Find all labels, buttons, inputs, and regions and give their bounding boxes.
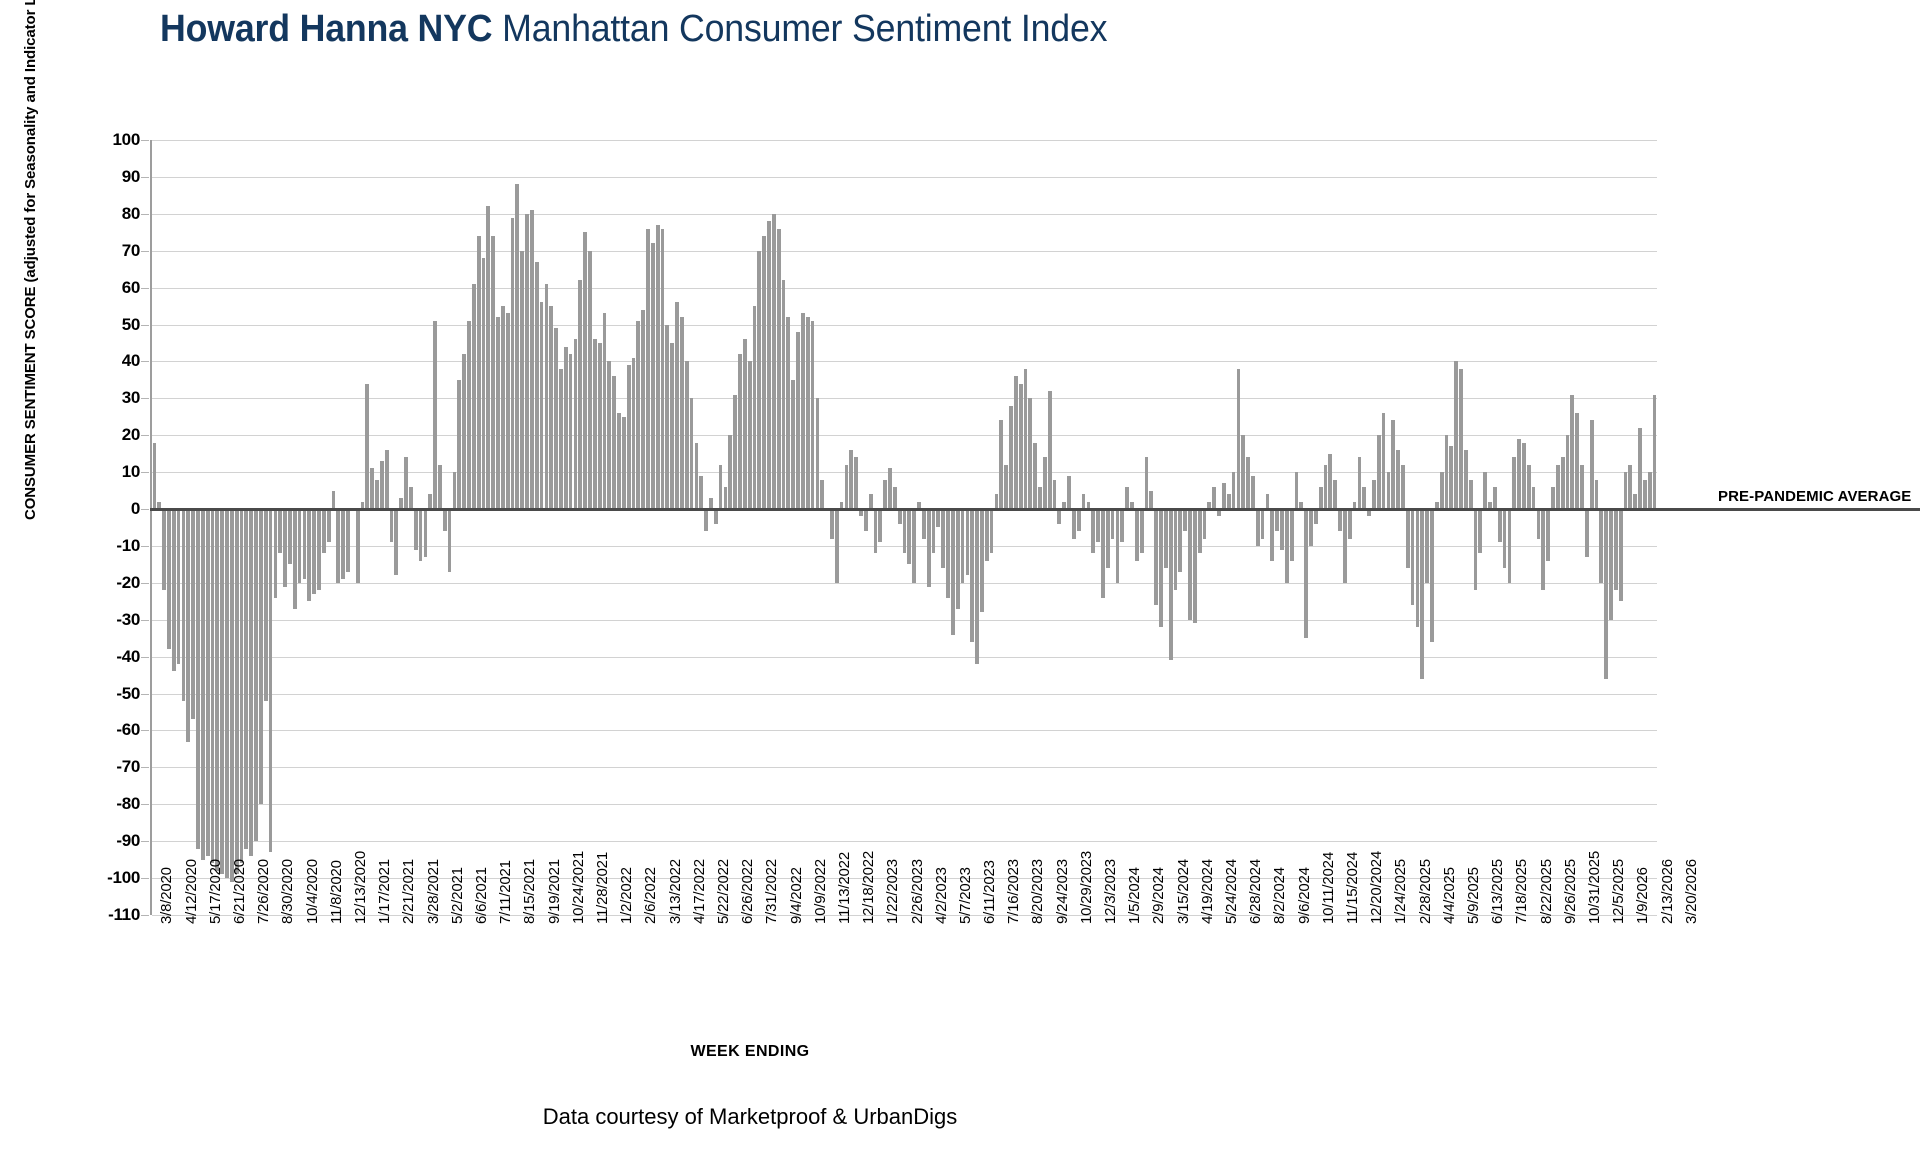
bar	[1406, 509, 1410, 568]
bar	[607, 361, 611, 509]
y-axis-tick-label: 90	[80, 167, 140, 187]
bar	[1599, 509, 1603, 583]
bar	[482, 258, 486, 509]
bar	[1358, 457, 1362, 509]
y-axis-tick	[141, 915, 149, 916]
bar	[1512, 457, 1516, 509]
bar	[1483, 472, 1487, 509]
bar	[1546, 509, 1550, 561]
bar	[1004, 465, 1008, 509]
bar	[346, 509, 350, 572]
bar	[540, 302, 544, 509]
bar	[622, 417, 626, 509]
bar	[772, 214, 776, 509]
bar	[1580, 465, 1584, 509]
bar	[985, 509, 989, 561]
x-axis-tick-label: 2/26/2023	[909, 859, 926, 924]
x-axis-tick-label: 12/13/2020	[352, 851, 369, 924]
pre-pandemic-average-label: PRE-PANDEMIC AVERAGE	[1718, 488, 1911, 505]
bar	[564, 347, 568, 509]
x-axis-tick-label: 12/20/2024	[1368, 851, 1385, 924]
y-axis-tick-label: -30	[80, 610, 140, 630]
bar	[182, 509, 186, 701]
bar	[656, 225, 660, 509]
bar	[322, 509, 326, 553]
bar	[1120, 509, 1124, 542]
bar	[1019, 384, 1023, 509]
gridline	[152, 361, 1657, 362]
bar	[612, 376, 616, 509]
bar	[704, 509, 708, 531]
bar	[1246, 457, 1250, 509]
bar	[1348, 509, 1352, 539]
bar	[1101, 509, 1105, 598]
bar	[1091, 509, 1095, 553]
bar	[777, 229, 781, 509]
bar	[356, 509, 360, 583]
bar	[244, 509, 248, 849]
bar	[211, 509, 215, 863]
bar	[1116, 509, 1120, 583]
bar	[215, 509, 219, 871]
bar	[1653, 395, 1657, 509]
bar	[1140, 509, 1144, 553]
gridline	[152, 767, 1657, 768]
bar	[254, 509, 258, 841]
bar	[574, 339, 578, 509]
bar	[636, 321, 640, 509]
bar	[1464, 450, 1468, 509]
bar	[753, 306, 757, 509]
y-axis-tick	[141, 841, 149, 842]
y-axis-tick	[141, 804, 149, 805]
bar	[1285, 509, 1289, 583]
bar	[1145, 457, 1149, 509]
footer-note: Data courtesy of Marketproof & UrbanDigs	[0, 1104, 1500, 1130]
bar	[907, 509, 911, 564]
gridline	[152, 472, 1657, 473]
bar	[1227, 494, 1231, 509]
y-axis-tick-label: 30	[80, 388, 140, 408]
y-axis-tick-label: -50	[80, 684, 140, 704]
bar	[1614, 509, 1618, 590]
bar	[951, 509, 955, 634]
x-axis-tick-label: 10/31/2025	[1586, 851, 1603, 924]
bar	[1048, 391, 1052, 509]
bar	[956, 509, 960, 609]
bar	[1401, 465, 1405, 509]
gridline	[152, 657, 1657, 658]
bar	[1430, 509, 1434, 642]
bar	[946, 509, 950, 598]
x-axis-tick-label: 10/4/2020	[304, 859, 321, 924]
bar	[1372, 480, 1376, 510]
bar	[380, 461, 384, 509]
bar	[535, 262, 539, 509]
y-axis-tick	[141, 730, 149, 731]
y-axis-tick	[141, 325, 149, 326]
bar	[249, 509, 253, 856]
x-axis-tick-label: 10/11/2024	[1320, 852, 1337, 924]
bar	[1043, 457, 1047, 509]
y-axis-tick-label: 70	[80, 241, 140, 261]
bar	[477, 236, 481, 509]
bar	[1449, 446, 1453, 509]
bar	[695, 443, 699, 509]
x-axis-tick-label: 8/2/2024	[1271, 867, 1288, 924]
bar	[685, 361, 689, 509]
bar	[651, 243, 655, 509]
bar	[1154, 509, 1158, 605]
gridline	[152, 804, 1657, 805]
pre-pandemic-average-line	[150, 508, 1920, 511]
bar	[874, 509, 878, 553]
x-axis-tick-label: 5/22/2022	[715, 859, 732, 924]
x-axis-tick-labels: 3/8/20204/12/20205/17/20206/21/20207/26/…	[0, 918, 1920, 1038]
bar	[661, 229, 665, 509]
bar	[491, 236, 495, 509]
bar	[501, 306, 505, 509]
x-axis-tick-label: 8/15/2021	[521, 859, 538, 924]
bar	[1338, 509, 1342, 531]
bar	[303, 509, 307, 579]
y-axis-tick	[141, 694, 149, 695]
y-axis-tick	[141, 288, 149, 289]
bar	[1643, 480, 1647, 510]
x-axis-tick-label: 5/2/2021	[449, 867, 466, 924]
bar	[177, 509, 181, 664]
bar	[1251, 476, 1255, 509]
x-axis-tick-label: 1/17/2021	[376, 859, 393, 924]
bar	[1478, 509, 1482, 553]
x-axis-tick-label: 12/3/2023	[1102, 859, 1119, 924]
y-axis-tick	[141, 509, 149, 510]
y-axis-tick-label: 80	[80, 204, 140, 224]
bar	[1391, 420, 1395, 509]
bar	[796, 332, 800, 509]
bar	[438, 465, 442, 509]
bar	[274, 509, 278, 598]
y-axis-tick	[141, 251, 149, 252]
bar	[1280, 509, 1284, 550]
bar	[259, 509, 263, 804]
x-axis-tick-label: 11/8/2020	[328, 860, 345, 924]
bar	[1527, 465, 1531, 509]
bar	[593, 339, 597, 509]
gridline	[152, 177, 1657, 178]
bar	[1256, 509, 1260, 546]
y-axis-tick-label: 10	[80, 462, 140, 482]
bar	[332, 491, 336, 509]
x-axis-tick-label: 1/22/2023	[884, 859, 901, 924]
x-axis-tick-label: 5/17/2020	[207, 859, 224, 924]
y-axis-tick	[141, 583, 149, 584]
bar	[1024, 369, 1028, 509]
bar	[424, 509, 428, 557]
bar	[1561, 457, 1565, 509]
bar	[1149, 491, 1153, 509]
bar	[903, 509, 907, 553]
bar	[801, 313, 805, 509]
bar	[283, 509, 287, 587]
bar	[153, 443, 157, 509]
bar	[394, 509, 398, 575]
bar	[617, 413, 621, 509]
bar	[167, 509, 171, 649]
x-axis-tick-label: 9/24/2023	[1054, 859, 1071, 924]
bar	[849, 450, 853, 509]
bar	[1067, 476, 1071, 509]
x-axis-tick-label: 6/11/2023	[981, 860, 998, 924]
x-axis-tick-label: 2/21/2021	[400, 859, 417, 924]
bar	[1077, 509, 1081, 531]
bar	[288, 509, 292, 564]
bar	[912, 509, 916, 583]
bar	[757, 251, 761, 509]
bar	[1440, 472, 1444, 509]
bar	[1541, 509, 1545, 590]
x-axis-tick-label: 10/9/2022	[812, 859, 829, 924]
x-axis-tick-label: 10/29/2023	[1078, 851, 1095, 924]
bar	[172, 509, 176, 671]
bar	[1551, 487, 1555, 509]
bar	[457, 380, 461, 509]
chart-container: 1009080706050403020100-10-20-30-40-50-60…	[0, 0, 1920, 1174]
x-axis-tick-label: 9/19/2021	[546, 859, 563, 924]
bar	[414, 509, 418, 550]
bar	[995, 494, 999, 509]
bar	[806, 317, 810, 509]
bar	[830, 509, 834, 539]
x-axis-tick-label: 8/20/2023	[1029, 859, 1046, 924]
bar	[1377, 435, 1381, 509]
bar	[428, 494, 432, 509]
bar	[1537, 509, 1541, 539]
bar	[1212, 487, 1216, 509]
bar	[206, 509, 210, 856]
bar	[1493, 487, 1497, 509]
x-axis-tick-label: 7/18/2025	[1513, 859, 1530, 924]
gridline	[152, 140, 1657, 141]
bar	[341, 509, 345, 579]
bar	[1522, 443, 1526, 509]
x-axis-tick-label: 5/9/2025	[1465, 867, 1482, 924]
bar	[922, 509, 926, 539]
bar	[733, 395, 737, 509]
bar	[312, 509, 316, 594]
bar	[782, 280, 786, 509]
x-axis-tick-label: 7/16/2023	[1005, 859, 1022, 924]
bar	[1454, 361, 1458, 509]
y-axis-tick-label: -20	[80, 573, 140, 593]
y-axis-tick-label: 40	[80, 351, 140, 371]
bar	[1469, 480, 1473, 510]
gridline	[152, 398, 1657, 399]
x-axis-tick-label: 7/11/2021	[497, 860, 514, 924]
bar	[370, 468, 374, 509]
bar	[714, 509, 718, 524]
x-axis-tick-label: 9/4/2022	[788, 867, 805, 924]
bar	[515, 184, 519, 509]
bar	[1028, 398, 1032, 509]
bar	[748, 361, 752, 509]
bar	[1106, 509, 1110, 568]
bar	[719, 465, 723, 509]
bar	[767, 221, 771, 509]
bar	[327, 509, 331, 542]
y-axis-tick-label: 60	[80, 278, 140, 298]
y-axis-tick	[141, 878, 149, 879]
bar	[486, 206, 490, 509]
bar	[1638, 428, 1642, 509]
x-axis-tick-label: 2/28/2025	[1417, 859, 1434, 924]
bar	[1275, 509, 1279, 531]
bar	[627, 365, 631, 509]
y-axis-tick	[141, 140, 149, 141]
bar	[1053, 480, 1057, 510]
bar	[1445, 435, 1449, 509]
bar	[936, 509, 940, 527]
bar	[1570, 395, 1574, 509]
bar	[1033, 443, 1037, 509]
y-axis-tick	[141, 767, 149, 768]
bar	[1411, 509, 1415, 605]
bar	[520, 251, 524, 509]
x-axis-tick-label: 7/26/2020	[255, 859, 272, 924]
bar	[1203, 509, 1207, 539]
bar	[878, 509, 882, 542]
bar	[786, 317, 790, 509]
bar	[1425, 509, 1429, 583]
x-axis-tick-label: 8/22/2025	[1538, 859, 1555, 924]
bar	[738, 354, 742, 509]
bar	[970, 509, 974, 642]
bar	[1633, 494, 1637, 509]
bar	[1328, 454, 1332, 509]
bar	[898, 509, 902, 524]
bar	[1474, 509, 1478, 590]
y-axis-tick-label: -100	[80, 868, 140, 888]
bar	[496, 317, 500, 509]
bar	[186, 509, 190, 742]
bar	[888, 468, 892, 509]
bar	[385, 450, 389, 509]
bar	[1343, 509, 1347, 583]
bar	[559, 369, 563, 509]
bar	[375, 480, 379, 510]
x-axis-tick-label: 11/13/2022	[836, 852, 853, 924]
bar	[293, 509, 297, 609]
bar	[1009, 406, 1013, 509]
y-axis-tick-label: -10	[80, 536, 140, 556]
gridline	[152, 435, 1657, 436]
bar	[975, 509, 979, 664]
x-axis-tick-label: 3/13/2022	[667, 859, 684, 924]
x-axis-tick-label: 8/30/2020	[279, 859, 296, 924]
bar	[1309, 509, 1313, 546]
bar	[1178, 509, 1182, 572]
x-axis-tick-label: 6/13/2025	[1489, 859, 1506, 924]
bar	[1517, 439, 1521, 509]
bar	[845, 465, 849, 509]
bar	[409, 487, 413, 509]
bar	[162, 509, 166, 590]
bar	[1459, 369, 1463, 509]
bar	[816, 398, 820, 509]
x-axis-tick-label: 9/26/2025	[1562, 859, 1579, 924]
bar	[961, 509, 965, 583]
y-axis-tick-label: 50	[80, 315, 140, 335]
bar	[317, 509, 321, 590]
bar	[1237, 369, 1241, 509]
bar	[1595, 480, 1599, 510]
x-axis-tick-label: 3/8/2020	[158, 867, 175, 924]
bar	[864, 509, 868, 531]
bar	[1232, 472, 1236, 509]
bar	[966, 509, 970, 575]
y-axis-title: CONSUMER SENTIMENT SCORE (adjusted for S…	[22, 0, 39, 520]
bar	[1222, 483, 1226, 509]
bar	[941, 509, 945, 568]
bar	[791, 380, 795, 509]
bar	[336, 509, 340, 583]
x-axis-tick-label: 3/28/2021	[425, 859, 442, 924]
bar	[1241, 435, 1245, 509]
bar	[743, 339, 747, 509]
bar	[1193, 509, 1197, 623]
gridline	[152, 214, 1657, 215]
bar	[1382, 413, 1386, 509]
bar	[511, 218, 515, 510]
x-axis-tick-label: 7/31/2022	[763, 859, 780, 924]
x-axis-tick-label: 4/4/2025	[1441, 867, 1458, 924]
bar	[603, 313, 607, 509]
bar	[598, 343, 602, 509]
y-axis-tick	[141, 398, 149, 399]
bar	[230, 509, 234, 882]
bar	[1503, 509, 1507, 568]
x-axis-tick-label: 6/21/2020	[231, 859, 248, 924]
bar	[1072, 509, 1076, 539]
x-axis-tick-label: 2/6/2022	[642, 867, 659, 924]
bar	[820, 480, 824, 510]
x-axis-tick-label: 1/2/2022	[618, 867, 635, 924]
bar	[675, 302, 679, 509]
x-axis-tick-label: 4/17/2022	[691, 859, 708, 924]
bar	[235, 509, 239, 874]
bar	[1111, 509, 1115, 539]
x-axis-tick-label: 3/20/2026	[1683, 859, 1700, 924]
y-axis-tick-label: -60	[80, 720, 140, 740]
bar	[1498, 509, 1502, 542]
bar	[724, 487, 728, 509]
bar	[1125, 487, 1129, 509]
y-axis-tick	[141, 620, 149, 621]
bar	[467, 321, 471, 509]
bar	[811, 321, 815, 509]
bar	[1290, 509, 1294, 561]
bar	[854, 457, 858, 509]
bar	[545, 284, 549, 509]
x-axis-tick-label: 6/6/2021	[473, 867, 490, 924]
bar	[578, 280, 582, 509]
x-axis-tick-label: 3/15/2024	[1175, 859, 1192, 924]
bar	[869, 494, 873, 509]
bar	[264, 509, 268, 701]
bar	[220, 509, 224, 874]
bar	[1556, 465, 1560, 509]
x-axis-tick-label: 12/18/2022	[860, 851, 877, 924]
